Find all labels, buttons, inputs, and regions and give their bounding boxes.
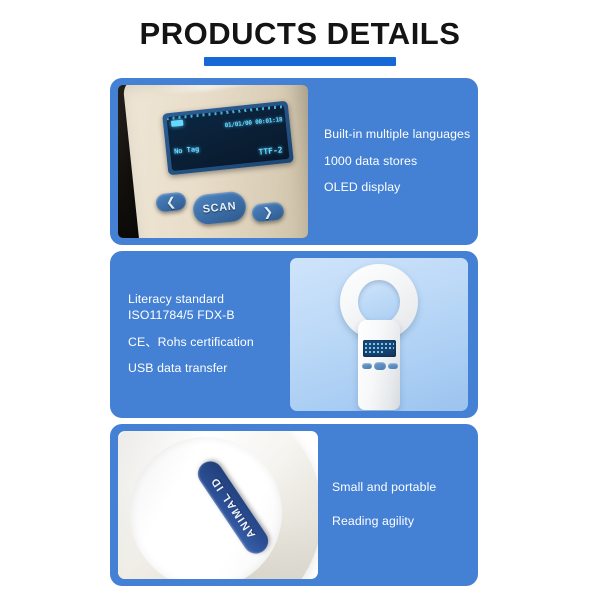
battery-icon	[171, 120, 184, 127]
device-screen-bezel: 01/01/00 00:01:18 No Tag TTF-2	[162, 101, 294, 176]
scan-button-label: SCAN	[202, 200, 237, 215]
arrow-left-icon: ❮	[165, 196, 176, 209]
card-3-feature-list: Small and portable Reading agility	[332, 471, 436, 538]
ring-antenna-reader-product-photo	[290, 258, 468, 411]
ring-antenna-closeup-photo: ANIMAL ID	[118, 431, 318, 579]
device-oled-screen	[363, 340, 396, 357]
oled-datetime: 01/01/00 00:01:18	[224, 116, 282, 129]
left-arrow-button[interactable]	[362, 363, 372, 369]
feature-card-2: Literacy standard ISO11784/5 FDX-B CE、Ro…	[110, 251, 478, 418]
title-underline	[204, 57, 396, 66]
feature-item: USB data transfer	[128, 361, 288, 377]
feature-card-1: 01/01/00 00:01:18 No Tag TTF-2 ❮ SCAN ❯ …	[110, 78, 478, 245]
feature-card-3: ANIMAL ID Small and portable Reading agi…	[110, 424, 478, 586]
feature-item: Reading agility	[332, 514, 436, 530]
screen-text-line	[365, 347, 394, 349]
ring-antenna-reader	[331, 264, 427, 410]
card-1-feature-list: Built-in multiple languages 1000 data st…	[324, 121, 470, 201]
page-header: PRODUCTS DETAILS	[0, 0, 600, 76]
feature-item: OLED display	[324, 180, 470, 196]
right-arrow-button[interactable]	[388, 363, 398, 369]
card-2-feature-list: Literacy standard ISO11784/5 FDX-B CE、Ro…	[128, 287, 288, 383]
feature-item: 1000 data stores	[324, 154, 470, 170]
oled-screen: 01/01/00 00:01:18 No Tag TTF-2	[167, 105, 290, 171]
screen-text-line	[365, 343, 394, 345]
oled-mode: TTF-2	[258, 145, 283, 156]
feature-item: Small and portable	[332, 480, 436, 496]
feature-item: Built-in multiple languages	[324, 127, 470, 143]
page-title: PRODUCTS DETAILS	[140, 18, 461, 49]
handheld-reader-closeup-photo: 01/01/00 00:01:18 No Tag TTF-2 ❮ SCAN ❯	[118, 85, 308, 238]
feature-item: CE、Rohs certification	[128, 335, 288, 351]
feature-item: Literacy standard ISO11784/5 FDX-B	[128, 292, 288, 323]
arrow-right-icon: ❯	[262, 206, 273, 219]
screen-text-line	[365, 351, 385, 353]
scan-button[interactable]	[374, 362, 386, 370]
oled-status: No Tag	[174, 145, 200, 156]
